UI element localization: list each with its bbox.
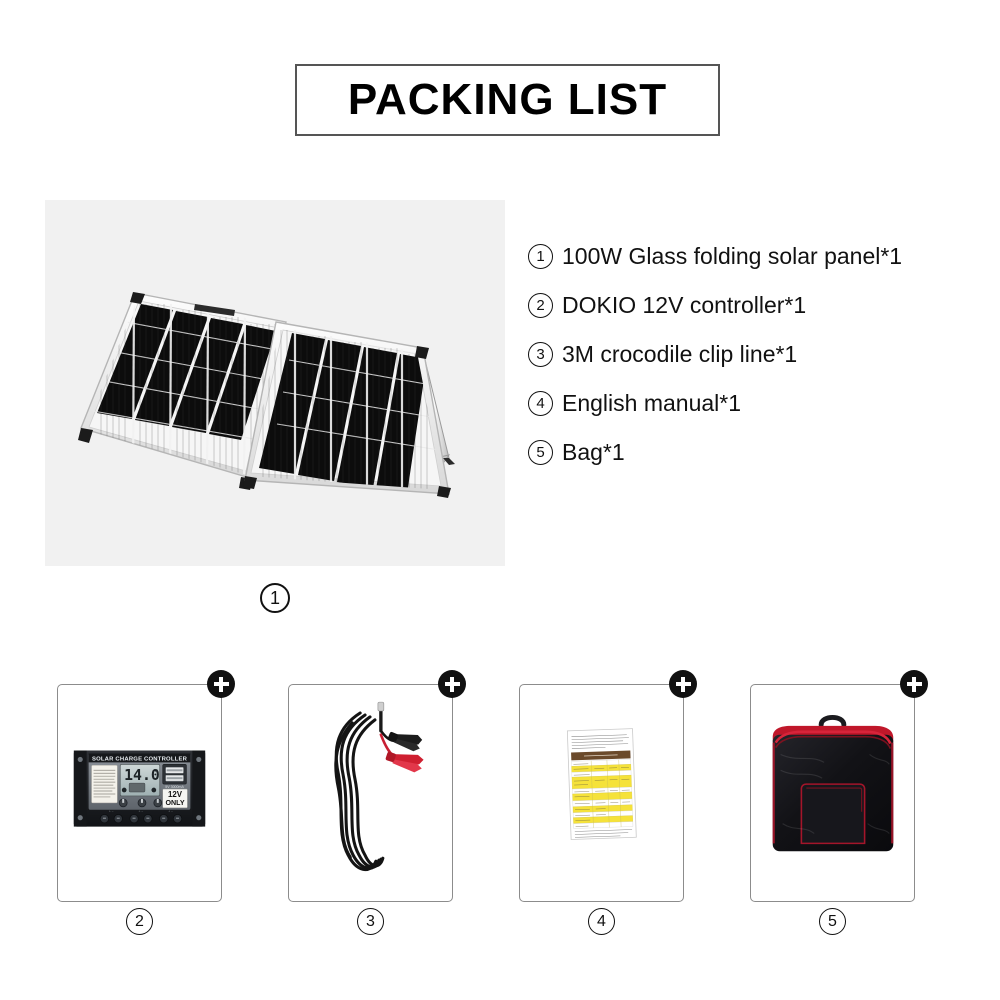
- list-item-number: 2: [528, 293, 553, 318]
- thumbnail-caption: 5: [750, 908, 915, 935]
- list-item-number: 3: [528, 342, 553, 367]
- thumbnail-clip-line: 3: [288, 684, 453, 902]
- accessory-thumbnail-row: SOLAR CHARGE CONTROLLER 14.0 V: [0, 684, 1000, 954]
- svg-text:+ −: + −: [168, 810, 173, 814]
- bag-front-pocket: [801, 784, 864, 843]
- thumbnail-box[interactable]: [750, 684, 915, 902]
- controller-knobs: [119, 799, 161, 807]
- thumbnail-box[interactable]: [519, 684, 684, 902]
- thumbnail-controller: SOLAR CHARGE CONTROLLER 14.0 V: [57, 684, 222, 902]
- solar-panel-illustration: [45, 200, 505, 566]
- list-item: 5 Bag*1: [528, 428, 978, 477]
- coiled-cable: [336, 713, 383, 870]
- controller-voltage-label-1: 12V: [168, 790, 183, 799]
- carry-bag-illustration: [751, 685, 914, 901]
- panel-wing-right: [243, 322, 451, 500]
- controller-title-text: SOLAR CHARGE CONTROLLER: [92, 756, 188, 762]
- packing-list: 1 100W Glass folding solar panel*1 2 DOK…: [528, 232, 978, 477]
- list-item: 3 3M crocodile clip line*1: [528, 330, 978, 379]
- thumbnail-box[interactable]: SOLAR CHARGE CONTROLLER 14.0 V: [57, 684, 222, 902]
- list-item-label: Bag*1: [562, 441, 625, 464]
- list-item: 2 DOKIO 12V controller*1: [528, 281, 978, 330]
- hero-caption: 1: [245, 583, 305, 613]
- thumbnail-caption: 4: [519, 908, 684, 935]
- page-title-box: PACKING LIST: [295, 64, 720, 136]
- thumbnail-caption-number: 3: [357, 908, 384, 935]
- controller-voltage-label-2: ONLY: [166, 799, 185, 807]
- spec-sheet: [567, 729, 636, 840]
- page-title: PACKING LIST: [348, 78, 667, 122]
- list-item: 4 English manual*1: [528, 379, 978, 428]
- bag-handle: [821, 717, 844, 724]
- list-item-label: 3M crocodile clip line*1: [562, 343, 797, 366]
- list-item-label: English manual*1: [562, 392, 741, 415]
- list-item-label: DOKIO 12V controller*1: [562, 294, 806, 317]
- plus-icon[interactable]: [207, 670, 235, 698]
- packing-list-page: PACKING LIST: [0, 0, 1000, 1000]
- list-item-label: 100W Glass folding solar panel*1: [562, 245, 902, 268]
- thumbnail-caption: 2: [57, 908, 222, 935]
- plus-icon[interactable]: [669, 670, 697, 698]
- hero-caption-number: 1: [260, 583, 290, 613]
- thumbnail-bag: 5: [750, 684, 915, 902]
- thumbnail-caption: 3: [288, 908, 453, 935]
- thumbnail-manual: 4: [519, 684, 684, 902]
- svg-text:+ −: + −: [109, 810, 114, 814]
- list-item-number: 1: [528, 244, 553, 269]
- list-item: 1 100W Glass folding solar panel*1: [528, 232, 978, 281]
- crocodile-clip-black: [387, 725, 424, 753]
- hero-solar-panel-image: [45, 200, 505, 566]
- thumbnail-caption-number: 5: [819, 908, 846, 935]
- english-manual-illustration: [520, 685, 683, 901]
- plus-icon[interactable]: [438, 670, 466, 698]
- thumbnail-caption-number: 4: [588, 908, 615, 935]
- list-item-number: 5: [528, 440, 553, 465]
- list-item-number: 4: [528, 391, 553, 416]
- solar-charge-controller-illustration: SOLAR CHARGE CONTROLLER 14.0 V: [58, 685, 221, 901]
- plus-icon[interactable]: [900, 670, 928, 698]
- crocodile-clip-red: [384, 746, 425, 775]
- thumbnail-box[interactable]: [288, 684, 453, 902]
- svg-text:+ −: + −: [139, 810, 144, 814]
- controller-usb-label: 5V 3000mA: [165, 785, 184, 789]
- crocodile-clip-line-illustration: [289, 685, 452, 901]
- thumbnail-caption-number: 2: [126, 908, 153, 935]
